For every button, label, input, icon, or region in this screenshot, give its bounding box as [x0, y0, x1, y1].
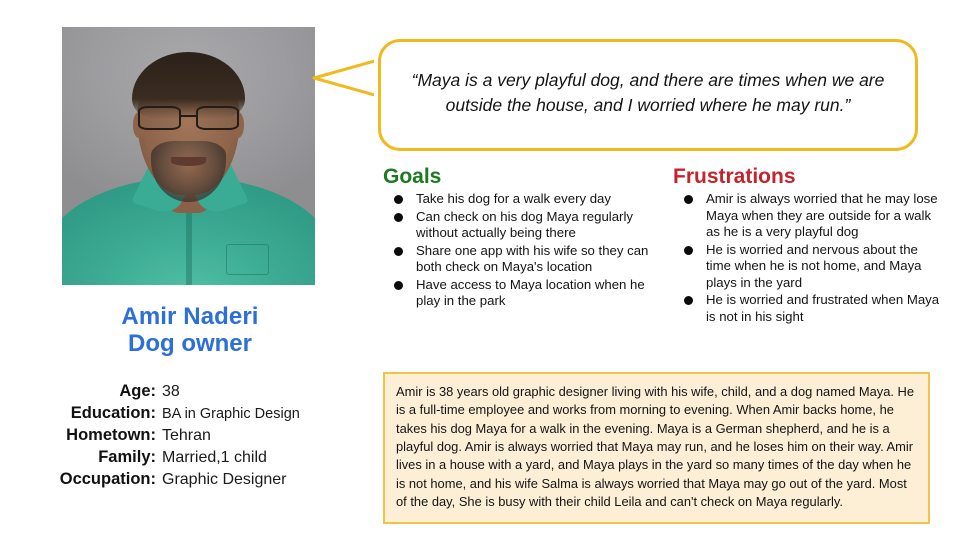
frustrations-heading: Frustrations: [673, 166, 945, 188]
bullet-icon: [684, 195, 693, 204]
demo-label-hometown: Hometown:: [12, 426, 162, 445]
table-row: Family: Married,1 child: [12, 448, 362, 467]
bullet-icon: [684, 246, 693, 255]
list-item: He is worried and frustrated when Maya i…: [673, 292, 945, 325]
shirt-placket: [186, 213, 192, 285]
list-item-text: He is worried and nervous about the time…: [706, 242, 922, 290]
frustrations-list: Amir is always worried that he may lose …: [673, 191, 945, 325]
glasses-bridge: [181, 115, 195, 118]
persona-card: Amir Naderi Dog owner Age: 38 Education:…: [0, 0, 960, 540]
demo-label-education: Education:: [12, 404, 162, 423]
persona-photo: [62, 27, 315, 285]
bullet-icon: [684, 296, 693, 305]
table-row: Education: BA in Graphic Design: [12, 404, 362, 423]
persona-bio-text: Amir is 38 years old graphic designer li…: [396, 383, 916, 511]
list-item: Share one app with his wife so they can …: [383, 243, 653, 276]
table-row: Age: 38: [12, 382, 362, 401]
demo-value-hometown: Tehran: [162, 427, 211, 445]
frustrations-section: Frustrations Amir is always worried that…: [673, 166, 945, 326]
demo-label-family: Family:: [12, 448, 162, 467]
demo-value-family: Married,1 child: [162, 449, 267, 467]
list-item-text: Take his dog for a walk every day: [416, 191, 611, 206]
eyeglasses-icon: [138, 106, 239, 131]
persona-role: Dog owner: [0, 330, 380, 358]
list-item-text: Amir is always worried that he may lose …: [706, 191, 938, 239]
goals-heading: Goals: [383, 166, 653, 188]
goals-list: Take his dog for a walk every day Can ch…: [383, 191, 653, 310]
list-item: Take his dog for a walk every day: [383, 191, 653, 208]
list-item-text: Share one app with his wife so they can …: [416, 243, 648, 275]
list-item-text: He is worried and frustrated when Maya i…: [706, 292, 939, 324]
persona-bio-box: Amir is 38 years old graphic designer li…: [383, 372, 930, 524]
goals-section: Goals Take his dog for a walk every day …: [383, 166, 653, 311]
bullet-icon: [394, 195, 403, 204]
bullet-icon: [394, 213, 403, 222]
demo-value-occupation: Graphic Designer: [162, 471, 287, 489]
shirt-pocket: [226, 244, 269, 275]
list-item-text: Have access to Maya location when he pla…: [416, 277, 645, 309]
bullet-icon: [394, 281, 403, 290]
persona-quote-bubble: “Maya is a very playful dog, and there a…: [378, 39, 918, 151]
lens-left: [138, 106, 182, 131]
lens-right: [196, 106, 240, 131]
list-item: Have access to Maya location when he pla…: [383, 277, 653, 310]
list-item: Can check on his dog Maya regularly with…: [383, 209, 653, 242]
persona-name: Amir Naderi: [0, 303, 380, 331]
demo-label-age: Age:: [12, 382, 162, 401]
demo-label-occupation: Occupation:: [12, 470, 162, 489]
bullet-icon: [394, 247, 403, 256]
list-item-text: Can check on his dog Maya regularly with…: [416, 209, 633, 241]
table-row: Occupation: Graphic Designer: [12, 470, 362, 489]
list-item: Amir is always worried that he may lose …: [673, 191, 945, 241]
list-item: He is worried and nervous about the time…: [673, 242, 945, 292]
demographics-table: Age: 38 Education: BA in Graphic Design …: [12, 382, 362, 492]
table-row: Hometown: Tehran: [12, 426, 362, 445]
demo-value-education: BA in Graphic Design: [162, 406, 300, 422]
demo-value-age: 38: [162, 383, 180, 401]
persona-quote-text: “Maya is a very playful dog, and there a…: [403, 68, 893, 119]
speech-bubble-tail-icon: [312, 57, 384, 99]
